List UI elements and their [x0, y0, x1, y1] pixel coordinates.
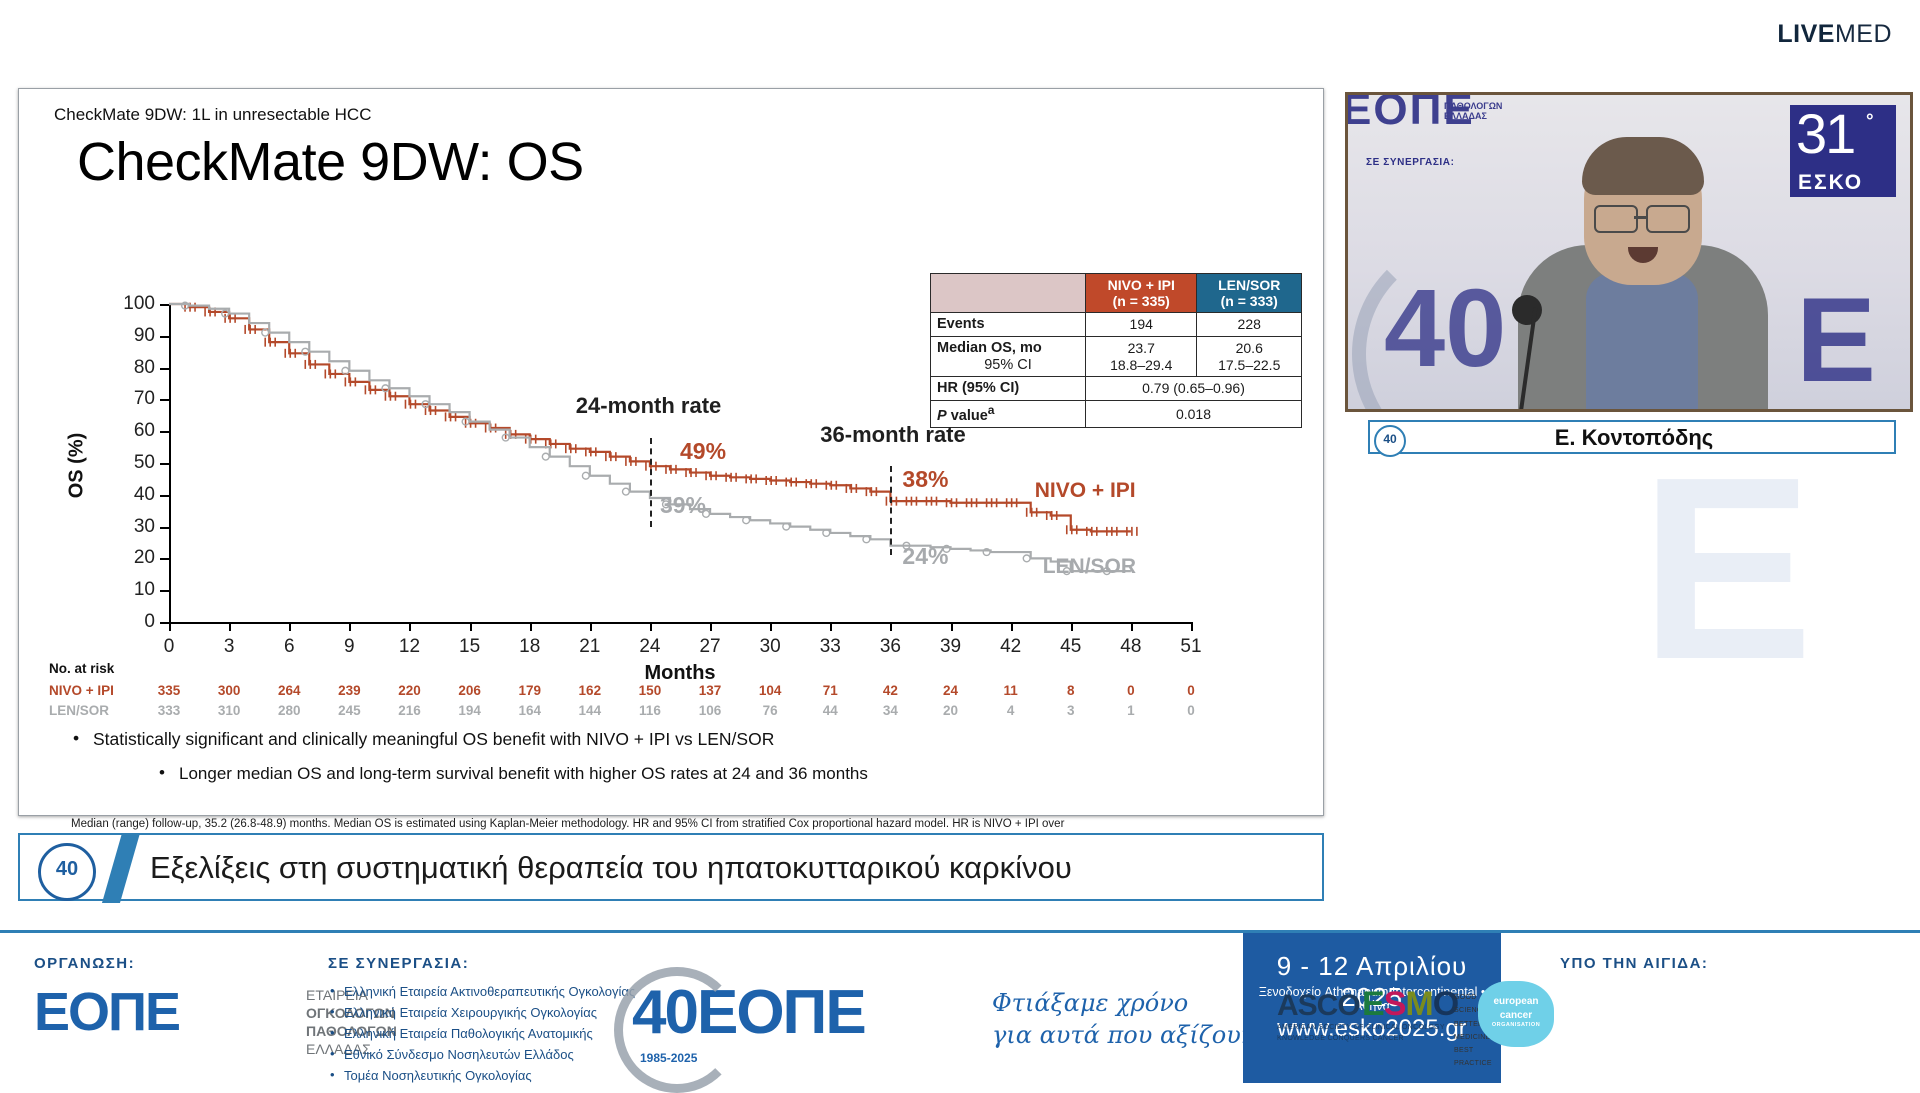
livemed-logo-bold: LIVE — [1777, 20, 1835, 48]
number-at-risk-value: 104 — [748, 683, 792, 698]
y-axis-tick-label: 100 — [95, 293, 155, 315]
speaker-glasses-bridge — [1634, 216, 1646, 219]
footer-tagline: Φτιάξαμε χρόνο για αυτά που αξίζουν — [992, 987, 1255, 1052]
list-item: Longer median OS and long-term survival … — [157, 764, 1271, 784]
eco-line-3: ORGANISATION — [1478, 1022, 1554, 1029]
number-at-risk-value: 0 — [1109, 683, 1153, 698]
list-item: Εθνικό Σύνδεσμο Νοσηλευτών Ελλάδος — [330, 1044, 635, 1065]
legend-label-nivo-ipi: NIVO + IPI — [1035, 479, 1136, 503]
number-at-risk-value: 4 — [989, 703, 1033, 718]
page-title: CheckMate 9DW: OS — [77, 131, 584, 193]
number-at-risk-row-label: NIVO + IPI — [49, 683, 135, 698]
censor-marks-len-sor — [182, 302, 1111, 574]
y-axis-tick-label: 50 — [95, 452, 155, 474]
y-axis-tick-label: 80 — [95, 357, 155, 379]
y-axis-tick — [160, 399, 169, 401]
x-axis-tick-label: 45 — [1051, 636, 1091, 658]
annotation-36-month-lensor-value: 24% — [902, 543, 948, 570]
annotation-24-month-nivo-value: 49% — [680, 438, 726, 465]
number-at-risk-value: 20 — [929, 703, 973, 718]
number-at-risk-value: 0 — [1169, 703, 1213, 718]
list-item: Statistically significant and clinically… — [71, 729, 1271, 750]
y-axis-tick — [160, 527, 169, 529]
number-at-risk-value: 216 — [387, 703, 431, 718]
annotation-36-month-rate: 36-month rate — [820, 422, 965, 448]
x-axis-tick-label: 48 — [1111, 636, 1151, 658]
x-axis-tick — [1191, 622, 1193, 631]
number-at-risk-row: NIVO + IPI335300264239220206179162150137… — [49, 683, 1319, 703]
x-axis-label: Months — [169, 662, 1191, 685]
esmo-logo-name: ESMO — [1362, 985, 1458, 1024]
y-axis-tick-label: 0 — [95, 611, 155, 633]
backdrop-eope-sub: ΠΑΘΟΛΟΓΩΝ ΕΛΛΑΔΑΣ — [1444, 101, 1502, 122]
backdrop-coop-heading: ΣΕ ΣΥΝΕΡΓΑΣΙΑ: — [1366, 157, 1455, 168]
banner-slash-decoration — [102, 833, 140, 903]
number-at-risk-value: 0 — [1169, 683, 1213, 698]
list-item: Ελληνική Εταιρεία Χειρουργικής Ογκολογία… — [330, 1002, 635, 1023]
footer-tagline-line-1: Φτιάξαμε χρόνο — [992, 987, 1255, 1019]
number-at-risk-value: 144 — [568, 703, 612, 718]
number-at-risk-value: 71 — [808, 683, 852, 698]
speaker-video-panel[interactable]: EΟΠΕ ΠΑΘΟΛΟΓΩΝ ΕΛΛΑΔΑΣ ΣΕ ΣΥΝΕΡΓΑΣΙΑ: • … — [1345, 92, 1913, 412]
x-axis-tick-label: 27 — [690, 636, 730, 658]
x-axis-tick-label: 51 — [1171, 636, 1211, 658]
x-axis-tick-label: 12 — [389, 636, 429, 658]
presentation-slide: CheckMate 9DW: 1L in unresectable HCC Ch… — [18, 88, 1324, 816]
banner-badge-40: 40 — [38, 843, 96, 901]
backdrop-eope-sub-2: ΕΛΛΑΔΑΣ — [1444, 111, 1502, 121]
y-axis-tick-label: 40 — [95, 484, 155, 506]
annotation-36-month-nivo-value: 38% — [902, 466, 948, 493]
footer-cooperation-list: Ελληνική Εταιρεία Ακτινοθεραπευτικής Ογκ… — [330, 981, 635, 1086]
session-title-banner: 40 Εξελίξεις στη συστηματική θεραπεία το… — [18, 833, 1324, 901]
x-axis-tick-label: 3 — [209, 636, 249, 658]
y-axis-tick — [160, 368, 169, 370]
y-axis-tick — [160, 463, 169, 465]
number-at-risk-value: 206 — [448, 683, 492, 698]
bullet-list: Statistically significant and clinically… — [71, 729, 1271, 784]
esmo-logo: ESMO GOOD SCIENCE BETTER MEDICINE BEST P… — [1362, 985, 1458, 1024]
annotation-dashed-line-24mo — [650, 438, 652, 527]
number-at-risk-value: 3 — [1049, 703, 1093, 718]
y-axis-tick-label: 20 — [95, 547, 155, 569]
number-at-risk-value: 150 — [628, 683, 672, 698]
speaker-name-bar: 40 Ε. Κοντοπόδης — [1368, 420, 1896, 454]
y-axis-tick — [160, 590, 169, 592]
y-axis-tick-label: 70 — [95, 388, 155, 410]
number-at-risk-value: 42 — [868, 683, 912, 698]
footer-aegis-heading: ΥΠΟ ΤΗΝ ΑΙΓΙΔΑ: — [1560, 955, 1708, 972]
esmo-letter-s: S — [1384, 985, 1406, 1023]
y-axis-tick — [160, 304, 169, 306]
number-at-risk-value: 162 — [568, 683, 612, 698]
x-axis-tick-label: 36 — [870, 636, 910, 658]
footnote-line-1: Median (range) follow-up, 35.2 (26.8-48.… — [71, 817, 1261, 833]
backdrop-edition-degree: ° — [1866, 111, 1874, 133]
number-at-risk-value: 34 — [868, 703, 912, 718]
number-at-risk-value: 76 — [748, 703, 792, 718]
y-axis-tick-label: 90 — [95, 325, 155, 347]
x-axis-tick-label: 30 — [750, 636, 790, 658]
x-axis-tick-label: 39 — [931, 636, 971, 658]
y-axis-tick — [160, 431, 169, 433]
y-axis-tick — [160, 622, 169, 624]
y-axis-tick-label: 60 — [95, 420, 155, 442]
legend-label-len-sor: LEN/SOR — [1043, 555, 1136, 579]
esmo-letter-e: E — [1362, 985, 1384, 1023]
x-axis-tick-label: 15 — [450, 636, 490, 658]
annotation-24-month-lensor-value: 39% — [660, 492, 706, 519]
list-item: Ελληνική Εταιρεία Ακτινοθεραπευτικής Ογκ… — [330, 981, 635, 1002]
number-at-risk-value: 164 — [508, 703, 552, 718]
livemed-logo-light: MED — [1835, 20, 1892, 48]
number-at-risk-value: 44 — [808, 703, 852, 718]
number-at-risk-value: 220 — [387, 683, 431, 698]
session-title-text: Εξελίξεις στη συστηματική θεραπεία του η… — [150, 835, 1072, 903]
x-axis-tick-label: 18 — [510, 636, 550, 658]
anniversary-logo: 40EΟΠΕ — [632, 977, 865, 1048]
number-at-risk-value: 245 — [327, 703, 371, 718]
speaker-name: Ε. Κοντοπόδης — [1370, 422, 1898, 456]
x-axis-tick-label: 42 — [991, 636, 1031, 658]
esmo-sub-3: BEST PRACTICE — [1454, 1044, 1492, 1071]
footer-sponsor-bar: ΟΡΓΑΝΩΣΗ: EΟΠΕ ΕΤΑΙΡΕΙΑ ΟΓΚΟΛΟΓΩΝ ΠΑΘΟΛΟ… — [0, 930, 1920, 1083]
y-axis-tick — [160, 495, 169, 497]
backdrop-edition-number: 31 — [1796, 101, 1854, 166]
y-axis-tick — [160, 558, 169, 560]
y-axis-tick — [160, 336, 169, 338]
y-axis-tick-label: 10 — [95, 579, 155, 601]
esmo-letter-m: M — [1405, 985, 1432, 1023]
eco-line-2: cancer — [1478, 1009, 1554, 1023]
slide-kicker: CheckMate 9DW: 1L in unresectable HCC — [54, 105, 371, 125]
top-bar: LIVEMED — [0, 0, 1920, 66]
footer-cooperation-heading: ΣΕ ΣΥΝΕΡΓΑΣΙΑ: — [328, 955, 469, 972]
backdrop-edition-badge: 31 ° ΕΣΚΟ — [1790, 105, 1896, 197]
chart-plot-area: OS (%) Months 0102030405060708090100 036… — [169, 304, 1189, 624]
speaker-glasses-left — [1594, 205, 1638, 233]
number-at-risk-value: 280 — [267, 703, 311, 718]
eope-logo: EΟΠΕ — [34, 981, 179, 1043]
asco-logo-sub-2: KNOWLEDGE CONQUERS CANCER — [1277, 1034, 1445, 1045]
y-axis-label: OS (%) — [66, 433, 89, 499]
number-at-risk-value: 194 — [448, 703, 492, 718]
anniversary-ring-decoration — [614, 967, 740, 1093]
footer-tagline-line-2: για αυτά που αξίζουν — [992, 1019, 1255, 1051]
number-at-risk-row-label: LEN/SOR — [49, 703, 135, 718]
number-at-risk-value: 239 — [327, 683, 371, 698]
x-axis-tick-label: 33 — [810, 636, 850, 658]
backdrop-e-mark: Ε — [1796, 271, 1876, 409]
number-at-risk-value: 116 — [628, 703, 672, 718]
kaplan-meier-chart: OS (%) Months 0102030405060708090100 036… — [49, 279, 1309, 669]
speaker-hair — [1582, 137, 1704, 195]
number-at-risk-value: 300 — [207, 683, 251, 698]
number-at-risk-value: 24 — [929, 683, 973, 698]
background-watermark: E — [1640, 420, 1813, 719]
x-axis-tick-label: 21 — [570, 636, 610, 658]
eco-line-1: european — [1478, 995, 1554, 1009]
number-at-risk-value: 179 — [508, 683, 552, 698]
footer-organizer-heading: ΟΡΓΑΝΩΣΗ: — [34, 955, 135, 972]
y-axis-tick-label: 30 — [95, 516, 155, 538]
number-at-risk-row: LEN/SOR333310280245216194164144116106764… — [49, 703, 1319, 723]
backdrop-edition-esko: ΕΣΚΟ — [1798, 171, 1863, 195]
number-at-risk-value: 310 — [207, 703, 251, 718]
list-item: Ελληνική Εταιρεία Παθολογικής Ανατομικής — [330, 1023, 635, 1044]
x-axis-tick-label: 24 — [630, 636, 670, 658]
livemed-logo: LIVEMED — [1777, 20, 1892, 49]
eco-logo-text: european cancer ORGANISATION — [1478, 995, 1554, 1029]
x-axis-tick-label: 9 — [329, 636, 369, 658]
speaker-glasses-right — [1646, 205, 1690, 233]
list-item-continuation: Τομέα Νοσηλευτικής Ογκολογίας — [330, 1065, 635, 1086]
anniversary-years: 1985-2025 — [640, 1051, 697, 1065]
number-at-risk-value: 137 — [688, 683, 732, 698]
number-at-risk-value: 1 — [1109, 703, 1153, 718]
footer-cooperation-ul: Ελληνική Εταιρεία Ακτινοθεραπευτικής Ογκ… — [330, 981, 635, 1086]
asco-logo-sub-1: AMERICAN SOCIETY OF CLINICAL ONCOLOGY — [1277, 1023, 1445, 1034]
number-at-risk-value: 106 — [688, 703, 732, 718]
number-at-risk-value: 8 — [1049, 683, 1093, 698]
number-at-risk-value: 11 — [989, 683, 1033, 698]
number-at-risk-title: No. at risk — [49, 661, 114, 676]
annotation-dashed-line-36mo — [890, 466, 892, 555]
backdrop-40-mark: 40 — [1384, 265, 1506, 392]
european-cancer-organisation-logo: european cancer ORGANISATION — [1478, 981, 1554, 1047]
microphone-head — [1512, 295, 1542, 325]
annotation-24-month-rate: 24-month rate — [576, 393, 721, 419]
speaker-shirt — [1586, 273, 1698, 412]
number-at-risk-value: 264 — [267, 683, 311, 698]
x-axis-tick-label: 6 — [269, 636, 309, 658]
x-axis-tick-label: 0 — [149, 636, 189, 658]
number-at-risk-value: 333 — [147, 703, 191, 718]
backdrop-eope-sub-1: ΠΑΘΟΛΟΓΩΝ — [1444, 101, 1502, 111]
number-at-risk-value: 335 — [147, 683, 191, 698]
